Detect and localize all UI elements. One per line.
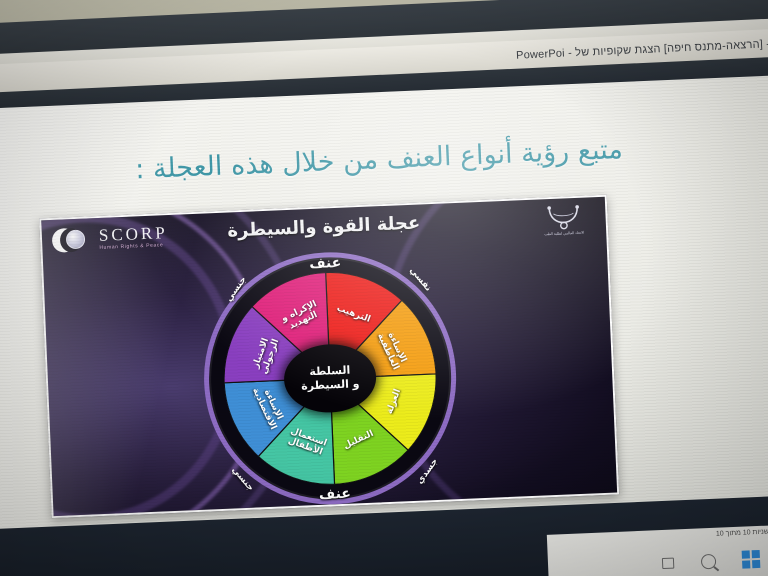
slide-heading: متبع رؤية أنواع العنف من خلال هذه العجلة… bbox=[0, 127, 768, 193]
search-icon[interactable] bbox=[701, 554, 717, 570]
windows-start-icon[interactable] bbox=[742, 550, 761, 569]
monitor-photo: PowerPoint - ‏[הרצאה-מתנס חיפה] הצגת שקו… bbox=[0, 0, 768, 576]
secondary-logo: الاتحاد العالمي لطلبة الطب bbox=[535, 203, 592, 237]
hub-label-line2: و السيطرة bbox=[301, 377, 360, 393]
ring-label-bottom: عنف bbox=[319, 486, 352, 503]
windows-taskbar[interactable]: שניות 10 מתוך 10 bbox=[547, 525, 768, 576]
window-title: PowerPoint - ‏[הרצאה-מתנס חיפה] הצגת שקו… bbox=[516, 35, 768, 61]
wheel-graphic: عنف عنف جنسي نفسي جنسي جسدي السلطة و الس… bbox=[199, 247, 461, 509]
taskbar-clock: שניות 10 מתוך 10 bbox=[716, 529, 768, 538]
taskview-icon[interactable] bbox=[662, 558, 674, 569]
power-control-wheel-image[interactable]: SCORP Human Rights & Peace عجلة القوة وا… bbox=[39, 195, 619, 519]
emblem-icon bbox=[543, 204, 584, 232]
ring-label-top: عنف bbox=[309, 255, 342, 272]
